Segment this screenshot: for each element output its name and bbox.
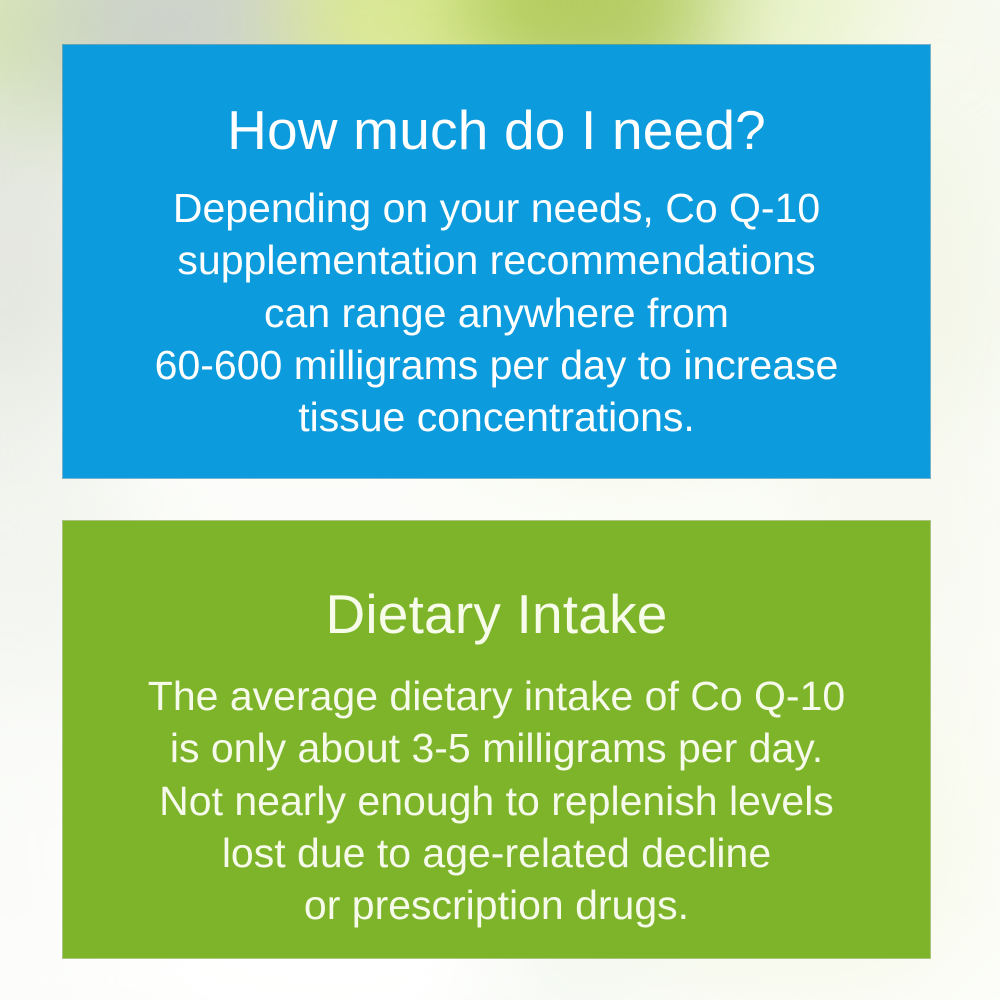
body-line: Not nearly enough to replenish levels — [148, 775, 845, 827]
body-line: or prescription drugs. — [148, 879, 845, 931]
body-line: 60-600 milligrams per day to increase — [155, 339, 839, 391]
body-line: supplementation recommendations — [155, 234, 839, 286]
body-line: is only about 3-5 milligrams per day. — [148, 722, 845, 774]
panel-dietary-intake: Dietary Intake The average dietary intak… — [63, 521, 930, 958]
panel-body-dietary-intake: The average dietary intake of Co Q-10 is… — [130, 670, 863, 930]
body-line: lost due to age-related decline — [148, 827, 845, 879]
panel-title-how-much-do-i-need: How much do I need? — [227, 101, 766, 160]
body-line: The average dietary intake of Co Q-10 — [148, 670, 845, 722]
panel-title-dietary-intake: Dietary Intake — [325, 585, 667, 644]
panel-how-much-do-i-need: How much do I need? Depending on your ne… — [63, 45, 930, 478]
panel-body-how-much-do-i-need: Depending on your needs, Co Q-10 supplem… — [137, 182, 857, 442]
infographic-canvas: How much do I need? Depending on your ne… — [0, 0, 1000, 1000]
body-line: can range anywhere from — [155, 287, 839, 339]
body-line: Depending on your needs, Co Q-10 — [155, 182, 839, 234]
body-line: tissue concentrations. — [155, 391, 839, 443]
